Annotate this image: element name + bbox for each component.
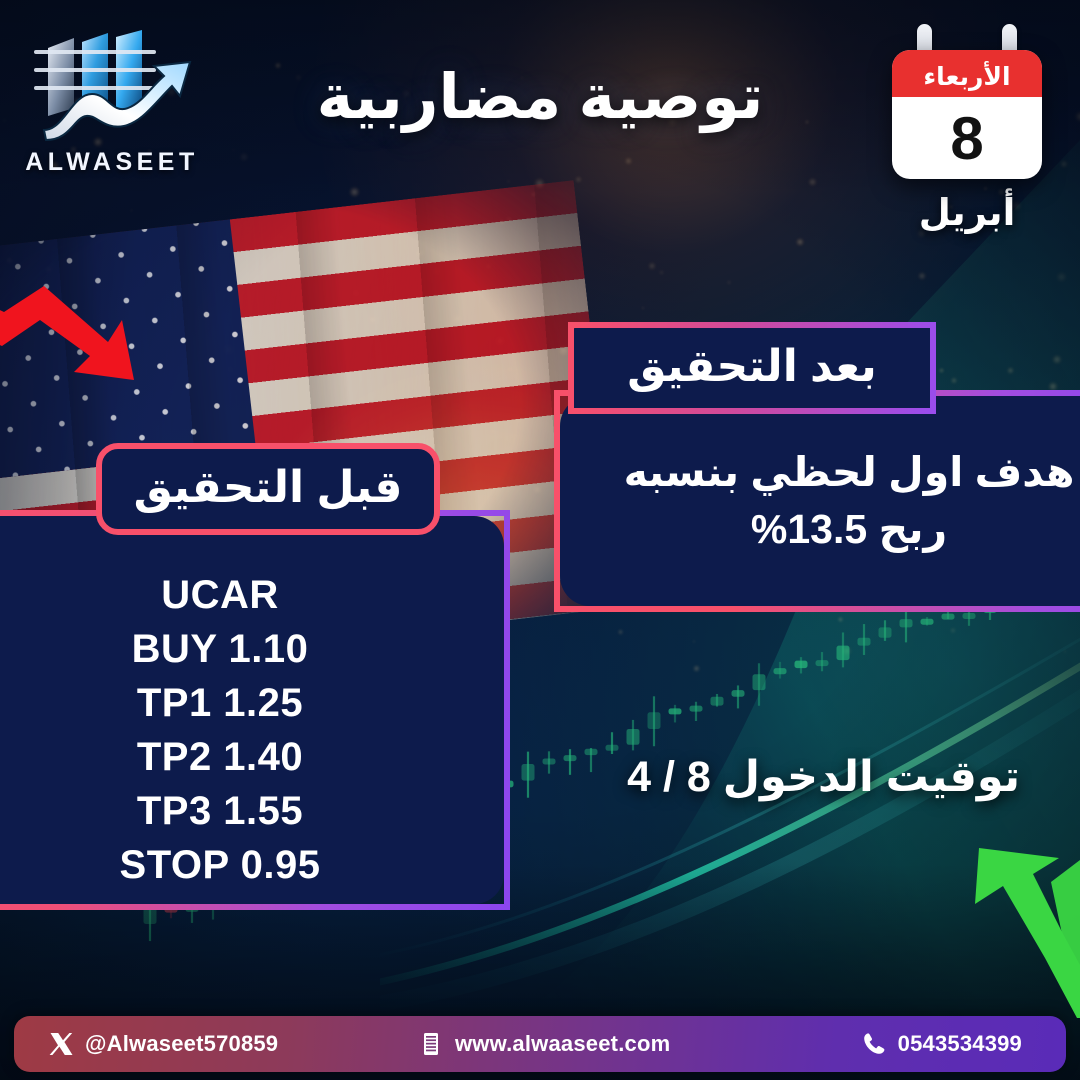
footer-social-handle: @Alwaseet570859: [85, 1031, 278, 1057]
footer-social-link[interactable]: @Alwaseet570859: [48, 1031, 278, 1057]
after-card-heading: بعد التحقيق: [568, 322, 936, 414]
green-up-trend-arrow-icon: [959, 808, 1080, 1018]
before-card-entry: BUY 1.10: [0, 622, 504, 676]
calendar-month: أبريل: [892, 191, 1042, 234]
footer-phone-number: 0543534399: [898, 1031, 1022, 1057]
document-icon: [418, 1031, 444, 1057]
after-card-heading-text: بعد التحقيق: [627, 341, 877, 392]
after-card-line: هدف اول لحظي بنسبه: [624, 444, 1075, 501]
before-card-tp3: TP3 1.55: [0, 784, 504, 838]
poster-canvas: ALWASEET توصية مضاربية الأربعاء 8 أبريل …: [0, 0, 1080, 1080]
before-card-content: UCAR BUY 1.10 TP1 1.25 TP2 1.40 TP3 1.55…: [0, 516, 504, 904]
footer-phone[interactable]: 0543534399: [861, 1031, 1022, 1057]
footer-website-link[interactable]: www.alwaaseet.com: [418, 1031, 670, 1057]
phone-icon: [861, 1031, 887, 1057]
before-card-symbol: UCAR: [0, 568, 504, 622]
brand-logo-text: ALWASEET: [22, 148, 202, 177]
before-card-tp2: TP2 1.40: [0, 730, 504, 784]
footer-website-url: www.alwaaseet.com: [455, 1031, 670, 1057]
calendar-rings: [892, 36, 1042, 50]
before-card-heading-text: قبل التحقيق: [134, 462, 403, 513]
after-card-body: هدف اول لحظي بنسبه ربح 13.5%: [554, 390, 1080, 612]
before-card-tp1: TP1 1.25: [0, 676, 504, 730]
before-card-heading: قبل التحقيق: [96, 443, 440, 535]
entry-time-label: توقيت الدخول 8 / 4: [627, 752, 1020, 802]
after-card-content: هدف اول لحظي بنسبه ربح 13.5%: [560, 396, 1080, 606]
footer-bar: @Alwaseet570859 www.alwaaseet.com 054353…: [14, 1016, 1066, 1072]
calendar-badge: الأربعاء 8 أبريل: [892, 36, 1042, 234]
x-twitter-icon: [48, 1031, 74, 1057]
before-card-stop: STOP 0.95: [0, 838, 504, 892]
calendar-weekday: الأربعاء: [892, 50, 1042, 97]
after-card-line: ربح 13.5%: [751, 501, 947, 558]
calendar-day: 8: [892, 97, 1042, 179]
before-card-body: UCAR BUY 1.10 TP1 1.25 TP2 1.40 TP3 1.55…: [0, 510, 510, 910]
calendar-body: الأربعاء 8: [892, 50, 1042, 179]
red-down-trend-arrow-icon: [0, 268, 142, 398]
